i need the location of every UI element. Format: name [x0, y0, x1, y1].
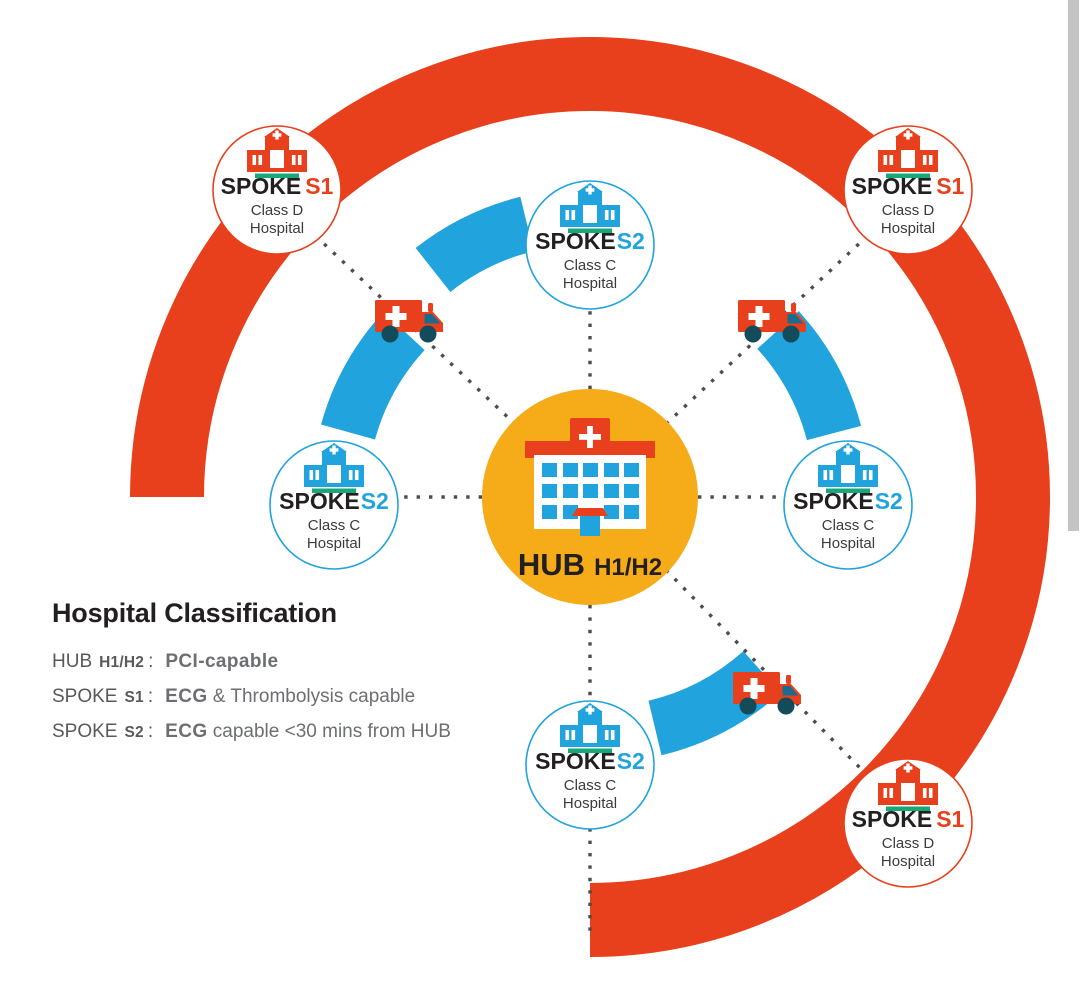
spoke-node-s2-top[interactable]: SPOKES2 Class C Hospital [526, 181, 654, 309]
legend-key-spoke-s1: SPOKE S1 [52, 686, 144, 708]
legend-value-hub: PCI-capable [165, 651, 278, 673]
legend-key-hub-text: HUB [52, 651, 92, 673]
spoke-label: SPOKE [852, 173, 933, 199]
legend-colon: : [148, 721, 153, 743]
spoke-code: S1 [936, 806, 964, 832]
spoke-class-line2: Hospital [821, 535, 875, 552]
legend-value-spoke-s2: ECG capable <30 mins from HUB [165, 721, 451, 743]
spoke-class-line1: Class C [564, 257, 617, 274]
spoke-class-line2: Hospital [307, 535, 361, 552]
spoke-class-line2: Hospital [881, 220, 935, 237]
blue-arc-upper-right-down [778, 330, 834, 433]
spoke-label: SPOKE [221, 173, 302, 199]
spoke-class-line1: Class D [882, 202, 935, 219]
legend-row-spoke-s2: SPOKE S2 : ECG capable <30 mins from HUB [52, 721, 570, 743]
vertical-scrollbar-track[interactable] [1068, 0, 1080, 1008]
spoke-code: S2 [617, 748, 645, 774]
blue-arc-top-left [433, 224, 527, 270]
legend-value-hub-strong: PCI-capable [165, 651, 278, 672]
spoke-code: S2 [875, 488, 903, 514]
spoke-class-line1: Class C [822, 517, 875, 534]
legend-key-spoke-s1-code: S1 [124, 689, 143, 707]
hub-code: H1/H2 [594, 554, 662, 581]
spoke-title: SPOKES1 [221, 173, 334, 199]
legend-key-spoke-s1-text: SPOKE [52, 686, 117, 708]
spoke-node-s1-top-left[interactable]: SPOKES1 Class D Hospital [213, 126, 341, 254]
legend-panel: Hospital Classification HUB H1/H2 : PCI-… [50, 598, 570, 756]
spoke-code: S2 [617, 228, 645, 254]
spoke-label: SPOKE [279, 488, 360, 514]
spoke-node-s1-top-right[interactable]: SPOKES1 Class D Hospital [844, 126, 972, 254]
spoke-class-line1: Class D [882, 835, 935, 852]
spoke-code: S2 [361, 488, 389, 514]
legend-key-hub-code: H1/H2 [99, 654, 144, 672]
hub-label: HUB [518, 547, 585, 582]
legend-key-spoke-s2: SPOKE S2 [52, 721, 144, 743]
spoke-label: SPOKE [535, 228, 616, 254]
diagram-canvas: HUBH1/H2 SPOKES1 Class D Hospital SPOKES… [0, 0, 1080, 1008]
vertical-scrollbar-thumb[interactable] [1068, 0, 1079, 531]
legend-value-spoke-s1-rest: & Thrombolysis capable [208, 686, 416, 707]
spoke-title: SPOKES1 [852, 173, 965, 199]
blue-arc-upper-left-down [348, 331, 404, 432]
legend-value-spoke-s1: ECG & Thrombolysis capable [165, 686, 415, 708]
spoke-label: SPOKE [793, 488, 874, 514]
spoke-node-s1-bottom-right[interactable]: SPOKES1 Class D Hospital [844, 759, 972, 887]
spoke-label: SPOKE [852, 806, 933, 832]
spoke-class-line1: Class C [564, 777, 617, 794]
legend-row-spoke-s1: SPOKE S1 : ECG & Thrombolysis capable [52, 686, 570, 708]
spoke-class-line1: Class C [308, 517, 361, 534]
spoke-title: SPOKES2 [793, 488, 903, 514]
legend-colon: : [148, 686, 153, 708]
legend-value-spoke-s2-strong: ECG [165, 721, 207, 742]
spoke-class-line2: Hospital [563, 795, 617, 812]
spoke-node-s2-left[interactable]: SPOKES2 Class C Hospital [270, 441, 398, 569]
legend-colon: : [148, 651, 153, 673]
hub-and-spoke-diagram: HUBH1/H2 SPOKES1 Class D Hospital SPOKES… [0, 0, 1080, 1008]
spoke-class-line2: Hospital [881, 853, 935, 870]
legend-title: Hospital Classification [52, 598, 570, 629]
spoke-class-line1: Class D [251, 202, 304, 219]
spoke-class-line2: Hospital [250, 220, 304, 237]
spoke-code: S1 [305, 173, 333, 199]
legend-value-spoke-s2-rest: capable <30 mins from HUB [208, 721, 451, 742]
legend-row-hub: HUB H1/H2 : PCI-capable [52, 651, 570, 673]
spoke-title: SPOKES2 [535, 228, 645, 254]
legend-key-spoke-s2-text: SPOKE [52, 721, 117, 743]
legend-value-spoke-s1-strong: ECG [165, 686, 207, 707]
ambulance-lower-right[interactable] [733, 672, 801, 715]
legend-key-spoke-s2-code: S2 [124, 724, 143, 742]
spoke-title: SPOKES2 [279, 488, 389, 514]
spoke-node-s2-right[interactable]: SPOKES2 Class C Hospital [784, 441, 912, 569]
spoke-class-line2: Hospital [563, 275, 617, 292]
legend-key-hub: HUB H1/H2 [52, 651, 144, 673]
spoke-code: S1 [936, 173, 964, 199]
spoke-title: SPOKES1 [852, 806, 965, 832]
hub-node[interactable]: HUBH1/H2 [482, 389, 698, 605]
